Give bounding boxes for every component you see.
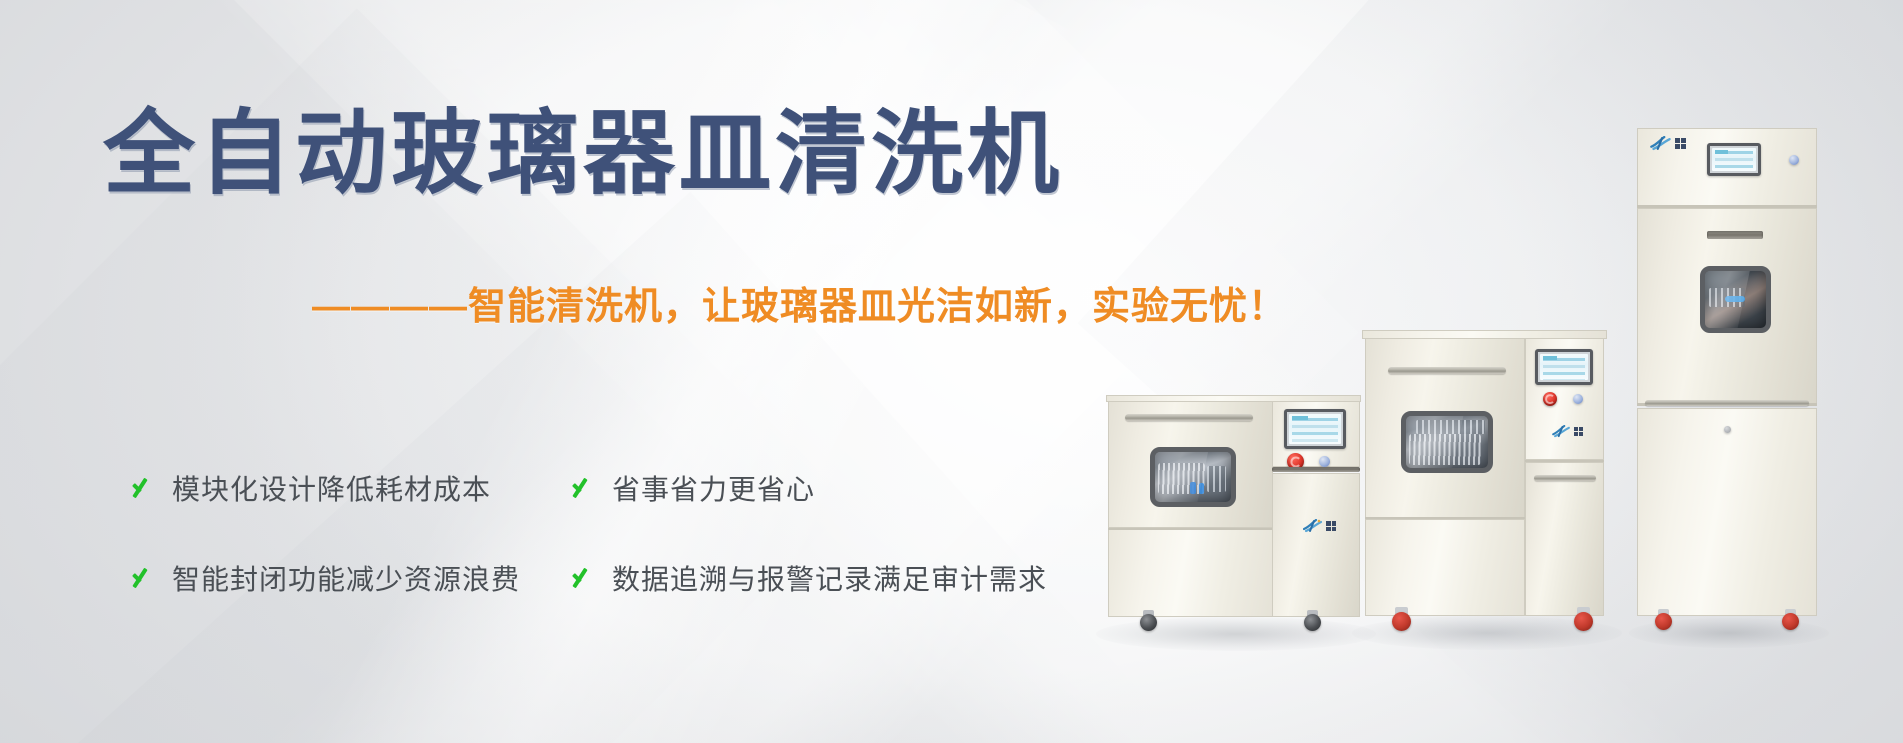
product-undercounter-glassware-washer [1106, 395, 1361, 630]
feature-label: 数据追溯与报警记录满足审计需求 [612, 558, 1047, 598]
caster-wheel [1304, 614, 1321, 631]
brand-logo [1303, 519, 1336, 533]
caster-wheel-disc [1655, 613, 1672, 630]
logo-squares-icon [1675, 138, 1686, 149]
screen-content [1540, 354, 1588, 380]
window-glare [1150, 447, 1210, 507]
machine-base-cabinet [1637, 408, 1817, 616]
feature-label: 模块化设计降低耗材成本 [172, 468, 491, 508]
check-icon [128, 563, 158, 593]
caster-wheel-disc [1304, 614, 1321, 631]
caster-wheel [1655, 613, 1672, 630]
product-freestanding-glassware-washer [1362, 330, 1607, 630]
logo-squares-icon [1326, 521, 1336, 531]
check-icon [568, 473, 598, 503]
door-handle [1388, 367, 1506, 374]
caster-wheel-disc [1140, 614, 1157, 631]
banner-copy: 全自动玻璃器皿清洗机 ————智能清洗机，让玻璃器皿光洁如新，实验无忧！ 模块化… [0, 0, 1130, 743]
feature-row: 模块化设计降低耗材成本 省事省力更省心 [128, 468, 1088, 508]
caster-wheel-disc [1392, 612, 1411, 631]
drawer-handle [1534, 475, 1596, 481]
brand-logo [1552, 425, 1583, 438]
touchscreen-display[interactable] [1707, 143, 1761, 176]
feature-item: 模块化设计降低耗材成本 [128, 468, 568, 508]
panel-seam [1108, 528, 1273, 530]
check-icon [568, 563, 598, 593]
vent-slot [1707, 231, 1763, 239]
door-viewing-window [1700, 266, 1771, 333]
touchscreen-display[interactable] [1284, 409, 1346, 449]
glassware-rack [1207, 466, 1227, 492]
caster-wheel [1574, 612, 1593, 631]
banner-title: 全自动玻璃器皿清洗机 [103, 108, 1063, 200]
machine-lower-drawer [1108, 529, 1273, 617]
feature-label: 省事省力更省心 [612, 468, 815, 508]
power-button[interactable] [1319, 456, 1330, 467]
power-button[interactable] [1573, 394, 1583, 404]
vent-slot [1272, 467, 1360, 472]
door-viewing-window [1150, 447, 1236, 507]
product-tall-column-glassware-washer [1637, 128, 1817, 630]
feature-item: 省事省力更省心 [568, 468, 815, 508]
caster-wheel [1392, 612, 1411, 631]
power-button[interactable] [1789, 155, 1799, 165]
logo-h-icon [1552, 425, 1571, 438]
logo-h-icon [1303, 519, 1323, 533]
door-viewing-window [1401, 411, 1493, 473]
caster-wheel-disc [1574, 612, 1593, 631]
service-cabinet-door [1272, 473, 1360, 617]
machine-lower-drawer [1365, 519, 1525, 616]
service-cabinet-door [1525, 462, 1604, 616]
door-handle [1125, 414, 1253, 421]
feature-row: 智能封闭功能减少资源浪费 数据追溯与报警记录满足审计需求 [128, 558, 1088, 598]
screen-content [1289, 414, 1341, 444]
product-image-group [1080, 0, 1903, 743]
keyhole-icon [1724, 426, 1731, 433]
feature-list: 模块化设计降低耗材成本 省事省力更省心 智能封闭功能减少资源浪费 数据追溯与报警… [128, 468, 1088, 648]
caster-wheel [1782, 613, 1799, 630]
check-icon [128, 473, 158, 503]
caster-wheel-disc [1782, 613, 1799, 630]
touchscreen-display[interactable] [1535, 349, 1593, 385]
brand-logo [1650, 136, 1686, 151]
feature-item: 数据追溯与报警记录满足审计需求 [568, 558, 1047, 598]
door-handle [1645, 400, 1809, 406]
logo-squares-icon [1574, 427, 1583, 436]
caster-wheel [1140, 614, 1157, 631]
emergency-stop-button[interactable] [1543, 392, 1557, 406]
product-banner: 全自动玻璃器皿清洗机 ————智能清洗机，让玻璃器皿光洁如新，实验无忧！ 模块化… [0, 0, 1903, 743]
feature-label: 智能封闭功能减少资源浪费 [172, 558, 520, 598]
product-shadow [1096, 617, 1376, 651]
logo-h-icon [1650, 136, 1672, 151]
screen-content [1712, 148, 1756, 171]
feature-item: 智能封闭功能减少资源浪费 [128, 558, 568, 598]
